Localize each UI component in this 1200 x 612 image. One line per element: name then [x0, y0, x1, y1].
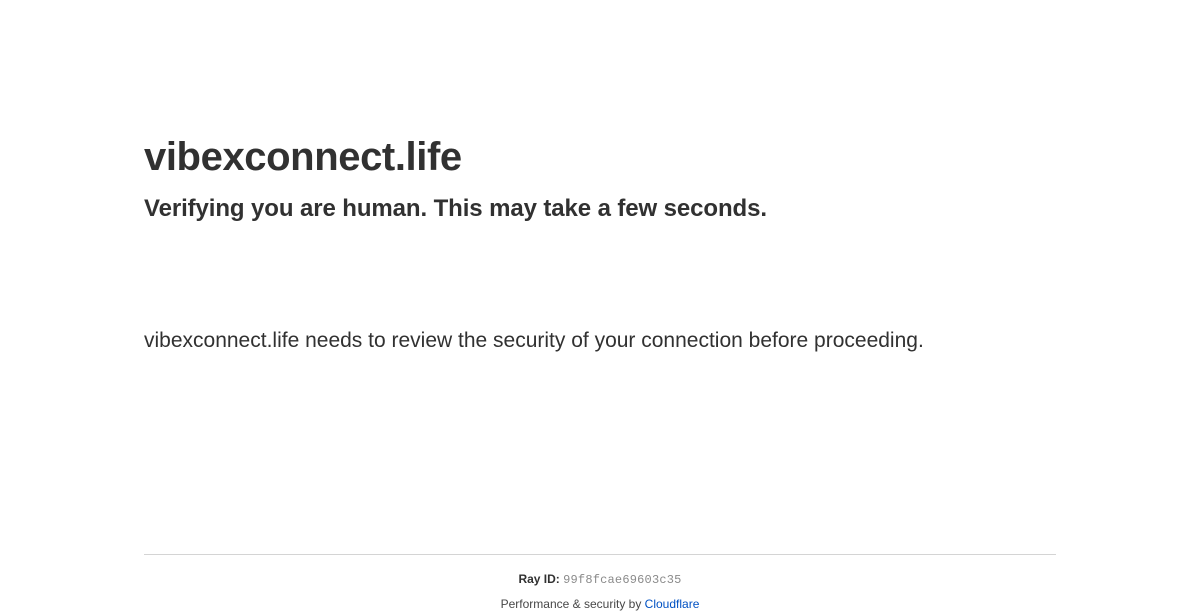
cloudflare-link[interactable]: Cloudflare: [645, 597, 700, 611]
branding-prefix-text: Performance & security by: [501, 597, 645, 611]
ray-id-row: Ray ID: 99f8fcae69603c35: [144, 555, 1056, 588]
ray-id-label: Ray ID:: [518, 572, 559, 586]
challenge-page: vibexconnect.life Verifying you are huma…: [0, 0, 1200, 600]
ray-id-value: 99f8fcae69603c35: [563, 573, 681, 587]
turnstile-challenge-widget[interactable]: [144, 247, 1056, 323]
branding-row: Performance & security by Cloudflare: [144, 588, 1056, 612]
page-title: vibexconnect.life: [144, 0, 1056, 183]
challenge-description: vibexconnect.life needs to review the se…: [144, 323, 944, 359]
page-footer: Ray ID: 99f8fcae69603c35 Performance & s…: [144, 554, 1056, 612]
verification-status-text: Verifying you are human. This may take a…: [144, 183, 1056, 225]
challenge-content: vibexconnect.life Verifying you are huma…: [144, 0, 1056, 359]
